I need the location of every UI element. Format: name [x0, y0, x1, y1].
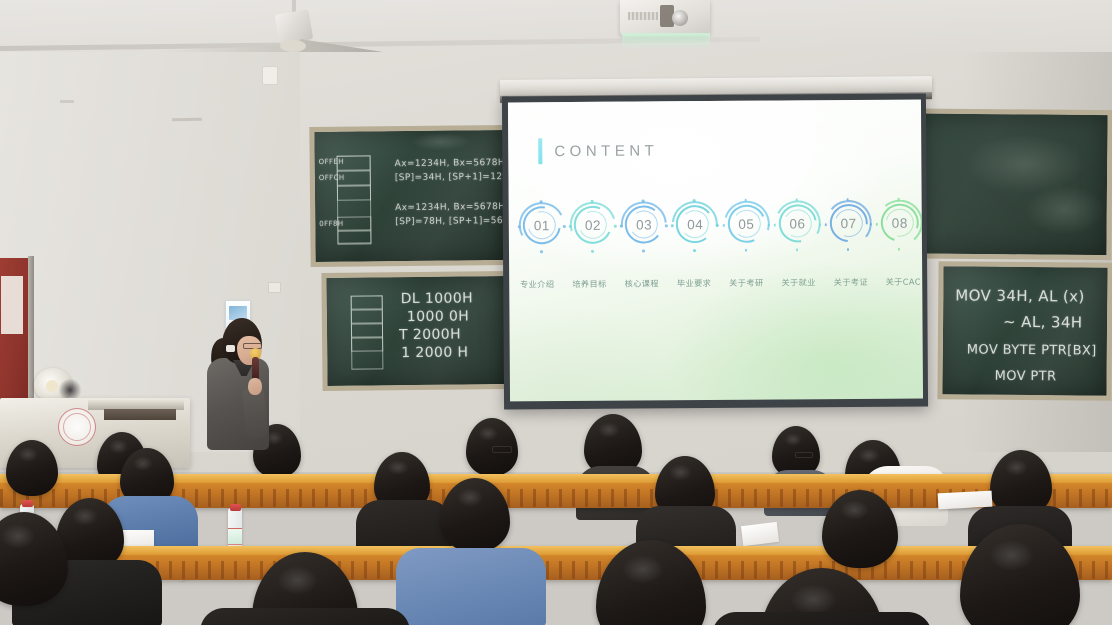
projector-vent — [628, 12, 658, 20]
circle-dot — [767, 224, 770, 227]
circle-dot — [591, 250, 594, 253]
bottle-cap — [22, 500, 33, 507]
circle-number: 03 — [636, 217, 652, 232]
slide-section-labels: 专业介绍培养目标核心课程毕业要求关于考研关于就业关于考证关于CAC — [514, 276, 923, 291]
slide-circle-04: 04 — [671, 198, 719, 250]
slide-circle-07: 07 — [824, 197, 872, 249]
chalk-line: [SP]=78H, [SP+1]=56H — [395, 216, 510, 227]
projector-light-beam — [622, 33, 710, 49]
circle-dot — [722, 224, 725, 227]
lecture-hall-scene: OFFEH OFFCH 0FF8H Ax=1234H, Bx=5678H, SP… — [0, 0, 1112, 625]
bottle-label — [228, 528, 242, 545]
chalk-stack-cell — [337, 185, 371, 200]
slide-circle-06: 06 — [773, 197, 821, 249]
circle-dot — [825, 223, 828, 226]
student-torso — [712, 612, 932, 625]
slide-header: CONTENT — [538, 137, 658, 164]
slide-surface: CONTENT 0102030405060708 专业介绍培养目标核心课程毕业要… — [508, 100, 923, 402]
chalk-line: ~ AL, 34H — [1003, 313, 1083, 332]
circle-dot — [716, 224, 719, 227]
circle-number: 01 — [534, 218, 550, 233]
slide-label-04: 毕业要求 — [671, 277, 717, 289]
circle-dot — [921, 223, 923, 226]
circle-dot — [665, 224, 668, 227]
slide-number-circles: 0102030405060708 — [518, 197, 923, 252]
lectern-equipment-slot — [104, 409, 176, 420]
circle-dot — [745, 249, 748, 252]
door-window-panel — [1, 276, 23, 334]
desk-row — [0, 546, 1112, 580]
circle-dot — [898, 248, 901, 251]
blackboard-left-upper: OFFEH OFFCH 0FF8H Ax=1234H, Bx=5678H, SP… — [309, 125, 510, 267]
wall-socket[interactable] — [268, 282, 281, 293]
chalk-stack-cell — [337, 230, 371, 244]
circle-dot — [642, 249, 645, 252]
blackboard-left-lower: DL 1000H 1000 0H T 2000H 1 2000 H — [321, 271, 512, 391]
chalk-line: T 2000H — [399, 327, 461, 344]
slide-label-01: 专业介绍 — [514, 278, 560, 290]
projector-lens-icon — [672, 10, 688, 26]
circle-dot — [563, 225, 566, 228]
circle-number: 05 — [738, 216, 754, 231]
slide-label-08: 关于CAC — [880, 276, 923, 288]
circle-dot — [693, 199, 696, 202]
slide-label-07: 关于考证 — [828, 276, 874, 288]
speaker-hand — [248, 378, 262, 395]
glasses-icon — [492, 446, 512, 453]
slide-label-02: 培养目标 — [566, 278, 612, 290]
slide-label-03: 核心课程 — [619, 277, 665, 289]
classroom-door[interactable] — [0, 258, 30, 408]
chalk-line: 1 2000 H — [401, 344, 468, 361]
circle-dot — [819, 223, 822, 226]
chalk-smudge — [1025, 184, 1105, 235]
chalk-line: 1000 0H — [407, 308, 469, 325]
chalk-line: Ax=1234H, Bx=5678H, SP=0FFCH — [395, 201, 511, 213]
chalk-line: MOV 34H, AL (x) — [955, 286, 1085, 305]
circle-dot — [795, 198, 798, 201]
circle-dot — [774, 224, 777, 227]
chalk-annotation: OFFEH — [319, 158, 344, 166]
slide-circle-08: 08 — [876, 197, 923, 249]
chalk-annotation: 0FF8H — [319, 220, 343, 228]
blackboard-right-lower: MOV 34H, AL (x) ~ AL, 34H MOV BYTE PTR[B… — [937, 261, 1112, 401]
circle-dot — [846, 198, 849, 201]
projection-screen: CONTENT 0102030405060708 专业介绍培养目标核心课程毕业要… — [502, 94, 928, 410]
paper-sheet — [741, 522, 779, 546]
chalk-annotation: OFFCH — [319, 174, 345, 182]
circle-dot — [870, 223, 873, 226]
student-torso — [396, 548, 546, 625]
table-fan-hub — [46, 380, 58, 392]
glasses-icon — [795, 452, 813, 458]
circle-number: 04 — [687, 217, 703, 232]
paper-sheet — [938, 491, 993, 510]
slide-circle-03: 03 — [620, 198, 668, 250]
circle-dot — [744, 199, 747, 202]
circle-dot — [540, 200, 543, 203]
circle-dot — [693, 249, 696, 252]
circle-dot — [591, 200, 594, 203]
slide-circle-02: 02 — [569, 199, 617, 251]
chalk-stack-cell — [351, 309, 383, 323]
chalk-line: MOV BYTE PTR[BX] — [967, 342, 1097, 358]
circle-number: 06 — [789, 216, 805, 231]
circle-number: 02 — [585, 217, 601, 232]
chalk-line: Ax=1234H, Bx=5678H, SP=0FFEH — [395, 157, 511, 169]
chalk-stack-cell — [351, 337, 383, 351]
chalk-stack-cell — [351, 295, 383, 309]
circle-dot — [518, 225, 521, 228]
chalk-stack-cell — [351, 323, 383, 337]
student-torso — [200, 608, 410, 625]
title-accent-bar — [538, 138, 542, 164]
chalk-line: MOV PTR — [995, 369, 1057, 385]
circle-dot — [847, 248, 850, 251]
circle-dot — [614, 225, 617, 228]
slide-label-05: 关于考研 — [723, 277, 769, 289]
circle-dot — [540, 250, 543, 253]
bottle-cap — [230, 504, 241, 511]
wall-scuff — [172, 118, 202, 122]
chalk-line: DL 1000H — [401, 290, 474, 307]
ceiling-fan-hub — [280, 40, 306, 52]
slide-label-06: 关于就业 — [776, 276, 822, 288]
circle-dot — [569, 225, 572, 228]
circle-number: 08 — [892, 215, 908, 230]
circle-dot — [796, 248, 799, 251]
wall-scuff — [60, 100, 74, 103]
circle-dot — [671, 224, 674, 227]
university-logo-ring — [63, 413, 91, 441]
slide-circle-01: 01 — [518, 199, 566, 251]
speaker-neck-detail — [226, 345, 235, 352]
slide-circle-05: 05 — [722, 198, 770, 250]
circle-dot — [620, 225, 623, 228]
page-title: CONTENT — [554, 142, 658, 160]
chalk-line: [SP]=34H, [SP+1]=12H — [395, 172, 510, 183]
circle-number: 07 — [841, 216, 857, 231]
circle-dot — [642, 199, 645, 202]
light-switch[interactable] — [262, 66, 278, 85]
